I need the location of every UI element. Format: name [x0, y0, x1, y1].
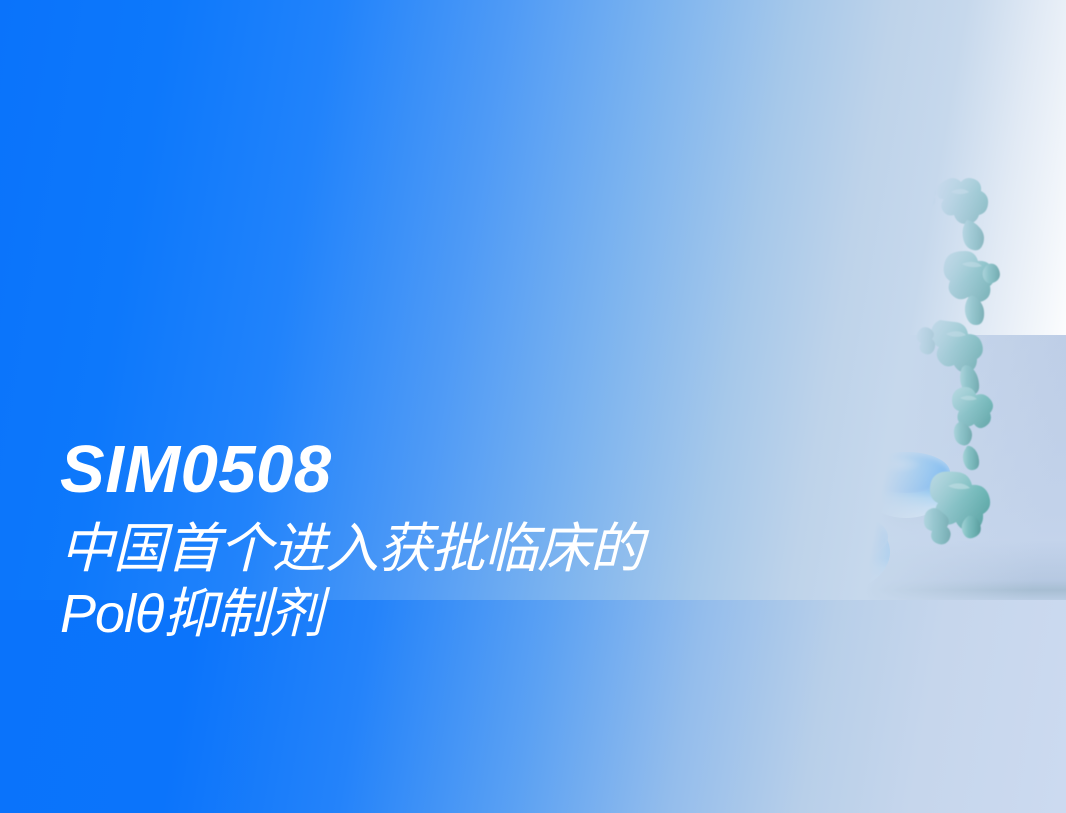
tagline-line-2: Polθ抑制剂: [60, 582, 840, 647]
tagline-line-1: 中国首个进入获批临床的: [60, 519, 643, 579]
headline-block: SIM0508 中国首个进入获批临床的 Polθ抑制剂: [60, 436, 840, 647]
poster-canvas: SIM0508 中国首个进入获批临床的 Polθ抑制剂: [0, 0, 1066, 813]
tagline: 中国首个进入获批临床的 Polθ抑制剂: [60, 517, 840, 647]
page-title: SIM0508: [60, 436, 840, 503]
